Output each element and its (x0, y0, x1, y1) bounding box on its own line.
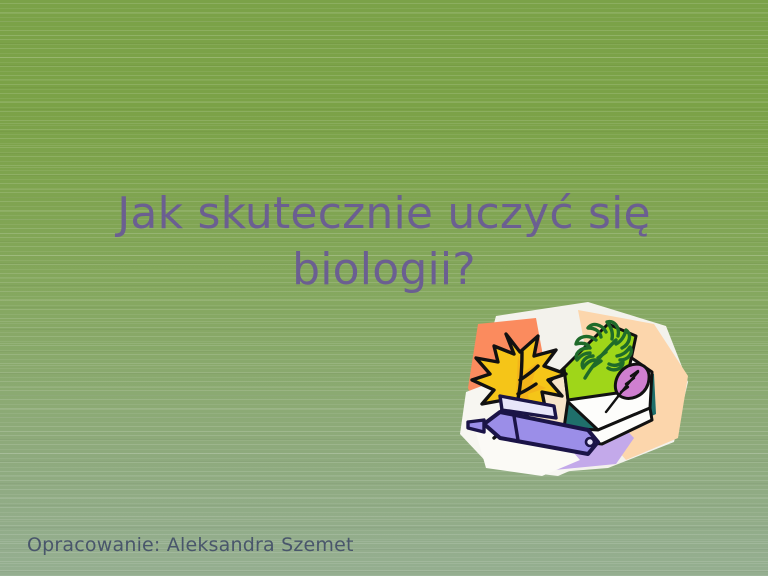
author-credit: Opracowanie: Aleksandra Szemet (27, 533, 354, 557)
presentation-slide: Jak skutecznie uczyć się biologii? (0, 0, 768, 576)
slide-title: Jak skutecznie uczyć się biologii? (58, 186, 710, 298)
biology-study-clipart (438, 296, 698, 482)
